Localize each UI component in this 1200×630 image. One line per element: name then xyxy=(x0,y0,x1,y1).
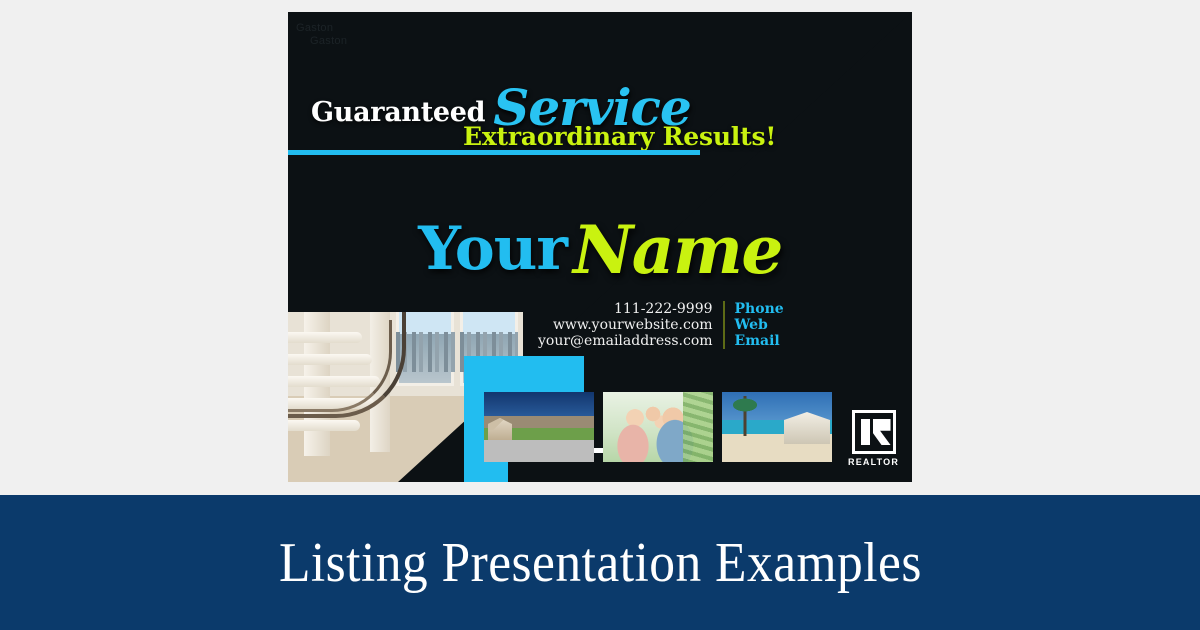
realtor-logo: REALTOR xyxy=(848,410,899,467)
contact-email-label: Email xyxy=(735,333,784,349)
contact-values: 111-222-9999 www.yourwebsite.com your@em… xyxy=(538,301,713,349)
cyan-underline-rule xyxy=(288,150,700,155)
name-first: Your xyxy=(418,214,567,284)
photo-strip xyxy=(484,392,832,462)
contact-divider xyxy=(723,301,725,349)
bottom-banner: Listing Presentation Examples xyxy=(0,495,1200,630)
realtor-letter-r-shape xyxy=(873,419,891,445)
contact-web-value: www.yourwebsite.com xyxy=(538,317,713,333)
watermark-line-2: Gaston xyxy=(296,35,347,48)
headline-guaranteed: Guaranteed xyxy=(311,97,485,128)
suburban-street-photo xyxy=(484,392,594,462)
watermark-line-1: Gaston xyxy=(296,22,347,35)
headline-extraordinary-results: Extraordinary Results! xyxy=(463,122,776,151)
contact-phone-value: 111-222-9999 xyxy=(538,301,713,317)
contact-email-value: your@emailaddress.com xyxy=(538,333,713,349)
contact-web-label: Web xyxy=(735,317,784,333)
beach-house-shape xyxy=(784,412,830,444)
listing-presentation-card: Gaston Gaston GuaranteedService Extraord… xyxy=(288,12,912,482)
contact-block: 111-222-9999 www.yourwebsite.com your@em… xyxy=(538,301,784,349)
name-block: YourName xyxy=(288,207,912,285)
contact-labels: Phone Web Email xyxy=(735,301,784,349)
realtor-wordmark: REALTOR xyxy=(848,457,899,467)
beach-house-photo xyxy=(722,392,832,462)
stair-tread xyxy=(288,420,360,431)
realtor-r-mark-icon xyxy=(852,410,896,454)
name-second: Name xyxy=(573,211,782,289)
realtor-bar-shape xyxy=(861,419,870,445)
watermark-text: Gaston Gaston xyxy=(296,22,347,48)
contact-phone-label: Phone xyxy=(735,301,784,317)
banner-title: Listing Presentation Examples xyxy=(279,531,922,595)
family-photo xyxy=(603,392,713,462)
